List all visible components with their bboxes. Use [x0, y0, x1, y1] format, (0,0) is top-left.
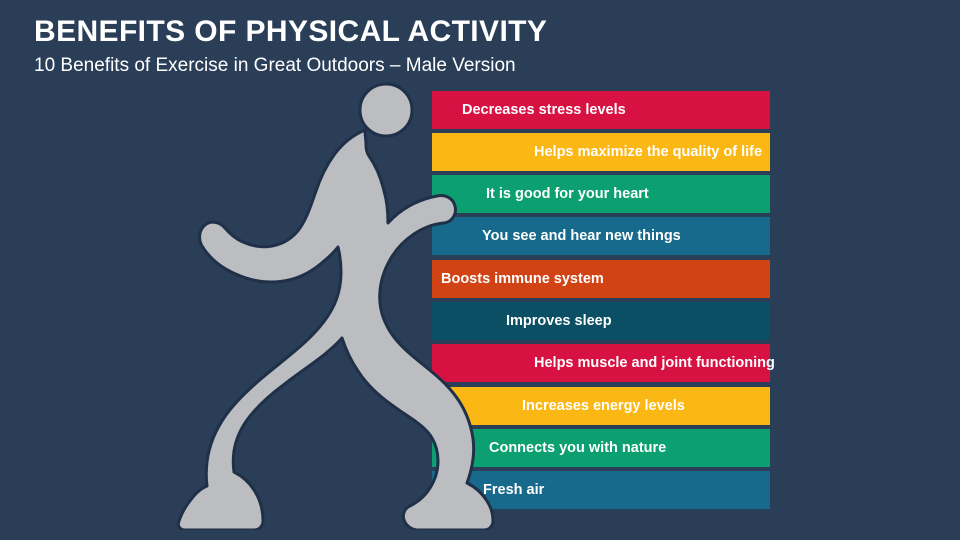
- benefit-bar[interactable]: Boosts immune system: [432, 258, 770, 298]
- benefit-bar-label: Fresh air: [483, 483, 544, 498]
- benefit-bar[interactable]: Increases energy levels: [432, 385, 770, 425]
- benefit-bar[interactable]: You see and hear new things: [432, 215, 770, 255]
- benefit-bar[interactable]: Helps muscle and joint functioning: [432, 342, 770, 382]
- benefit-bar-label: Decreases stress levels: [462, 103, 626, 118]
- benefit-bar-label: Helps muscle and joint functioning: [534, 356, 775, 371]
- benefit-bar[interactable]: Connects you with nature: [432, 427, 770, 467]
- benefit-bar[interactable]: Fresh air: [432, 469, 770, 509]
- slide-canvas: BENEFITS OF PHYSICAL ACTIVITY 10 Benefit…: [0, 0, 960, 540]
- benefit-bar[interactable]: It is good for your heart: [432, 173, 770, 213]
- benefits-bar-list: Decreases stress levelsHelps maximize th…: [0, 0, 960, 540]
- benefit-bar[interactable]: Improves sleep: [432, 300, 770, 340]
- benefit-bar-label: Improves sleep: [506, 314, 612, 329]
- benefit-bar-label: Increases energy levels: [522, 399, 685, 414]
- benefit-bar-label: Connects you with nature: [489, 441, 666, 456]
- benefit-bar-label: You see and hear new things: [482, 229, 681, 244]
- benefit-bar[interactable]: Decreases stress levels: [432, 89, 770, 129]
- benefit-bar-label: It is good for your heart: [486, 187, 649, 202]
- benefit-bar-label: Boosts immune system: [441, 272, 604, 287]
- benefit-bar[interactable]: Helps maximize the quality of life: [432, 131, 770, 171]
- benefit-bar-label: Helps maximize the quality of life: [534, 145, 762, 160]
